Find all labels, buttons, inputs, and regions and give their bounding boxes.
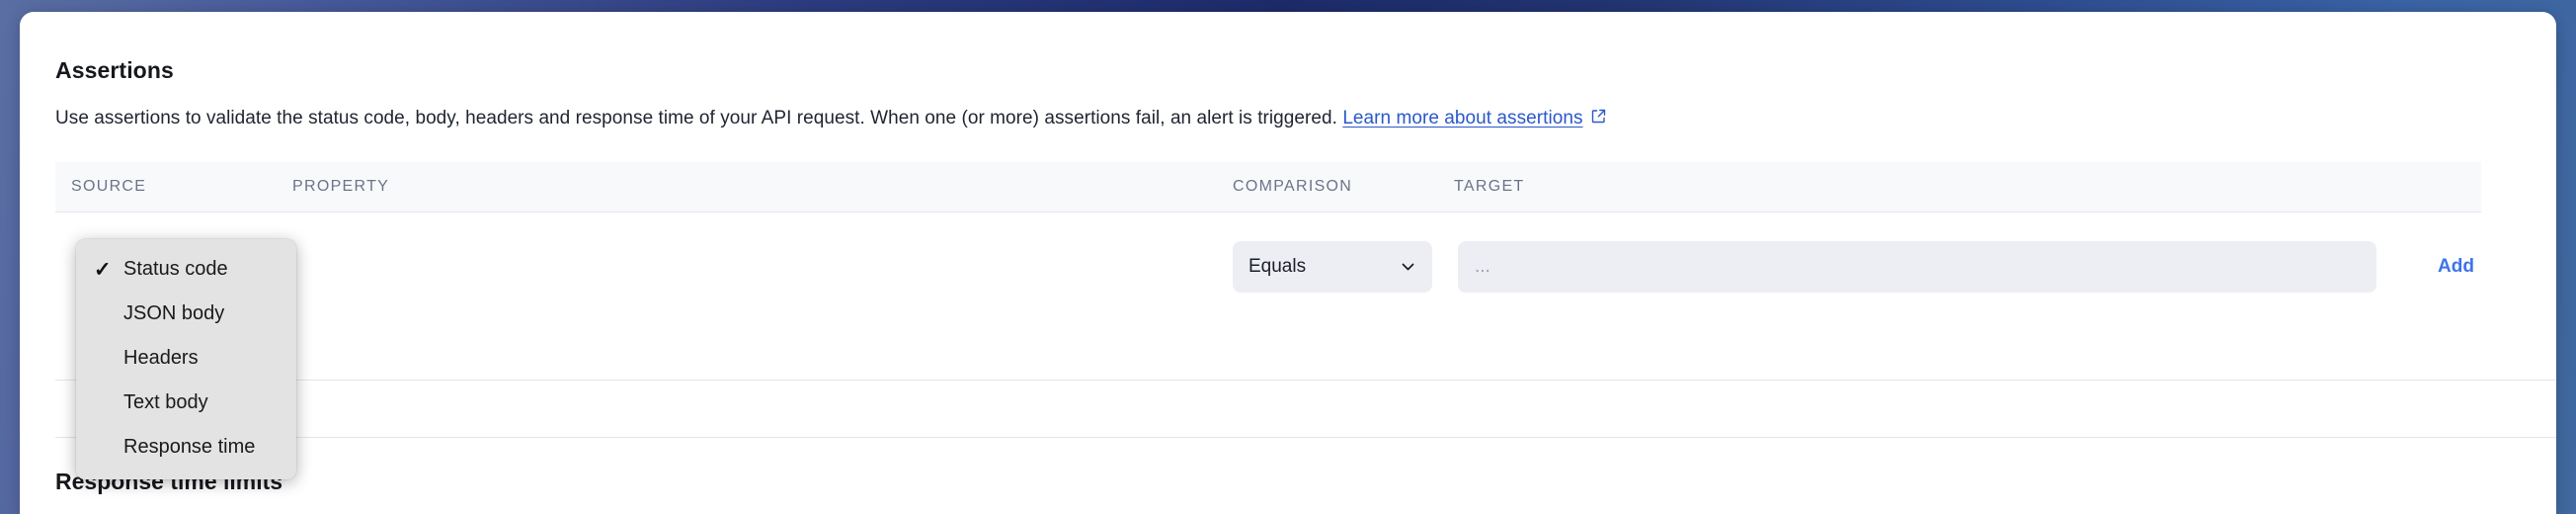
dropdown-item-label: Headers <box>123 347 199 370</box>
table-header-row: SOURCE PROPERTY COMPARISON TARGET <box>55 162 2481 213</box>
column-header-source: SOURCE <box>55 178 292 196</box>
comparison-select[interactable]: Equals <box>1233 241 1432 293</box>
dropdown-item-label: JSON body <box>123 302 224 325</box>
column-header-comparison: COMPARISON <box>1233 178 1454 196</box>
description-text: Use assertions to validate the status co… <box>55 108 1337 128</box>
dropdown-item-json-body[interactable]: JSON body <box>76 292 296 336</box>
source-dropdown-menu[interactable]: ✓ Status code JSON body Headers Text bod… <box>76 239 296 479</box>
row-divider-1 <box>55 380 2556 381</box>
dropdown-item-response-time[interactable]: Response time <box>76 425 296 470</box>
assertions-card: Assertions Use assertions to validate th… <box>20 12 2556 514</box>
assertion-row: Equals Add <box>55 213 2481 321</box>
dropdown-item-text-body[interactable]: Text body <box>76 381 296 425</box>
target-input[interactable] <box>1458 241 2376 293</box>
section-description: Use assertions to validate the status co… <box>55 108 1607 129</box>
column-header-target: TARGET <box>1454 178 2481 196</box>
dropdown-item-label: Text body <box>123 391 208 414</box>
page-title: Assertions <box>55 57 174 84</box>
dropdown-item-label: Status code <box>123 258 228 281</box>
add-assertion-button[interactable]: Add <box>2434 250 2478 284</box>
check-icon: ✓ <box>94 259 112 280</box>
column-header-property: PROPERTY <box>292 178 1233 196</box>
dropdown-item-label: Response time <box>123 436 255 459</box>
learn-more-link[interactable]: Learn more about assertions <box>1342 108 1582 128</box>
assertions-table: SOURCE PROPERTY COMPARISON TARGET <box>55 162 2481 213</box>
row-divider-2 <box>55 437 2556 438</box>
dropdown-item-headers[interactable]: Headers <box>76 336 296 381</box>
external-link-icon[interactable] <box>1590 108 1607 125</box>
card-content: Assertions Use assertions to validate th… <box>20 12 2556 514</box>
cell-comparison: Equals <box>1233 241 1432 293</box>
dropdown-item-status-code[interactable]: ✓ Status code <box>76 247 296 292</box>
